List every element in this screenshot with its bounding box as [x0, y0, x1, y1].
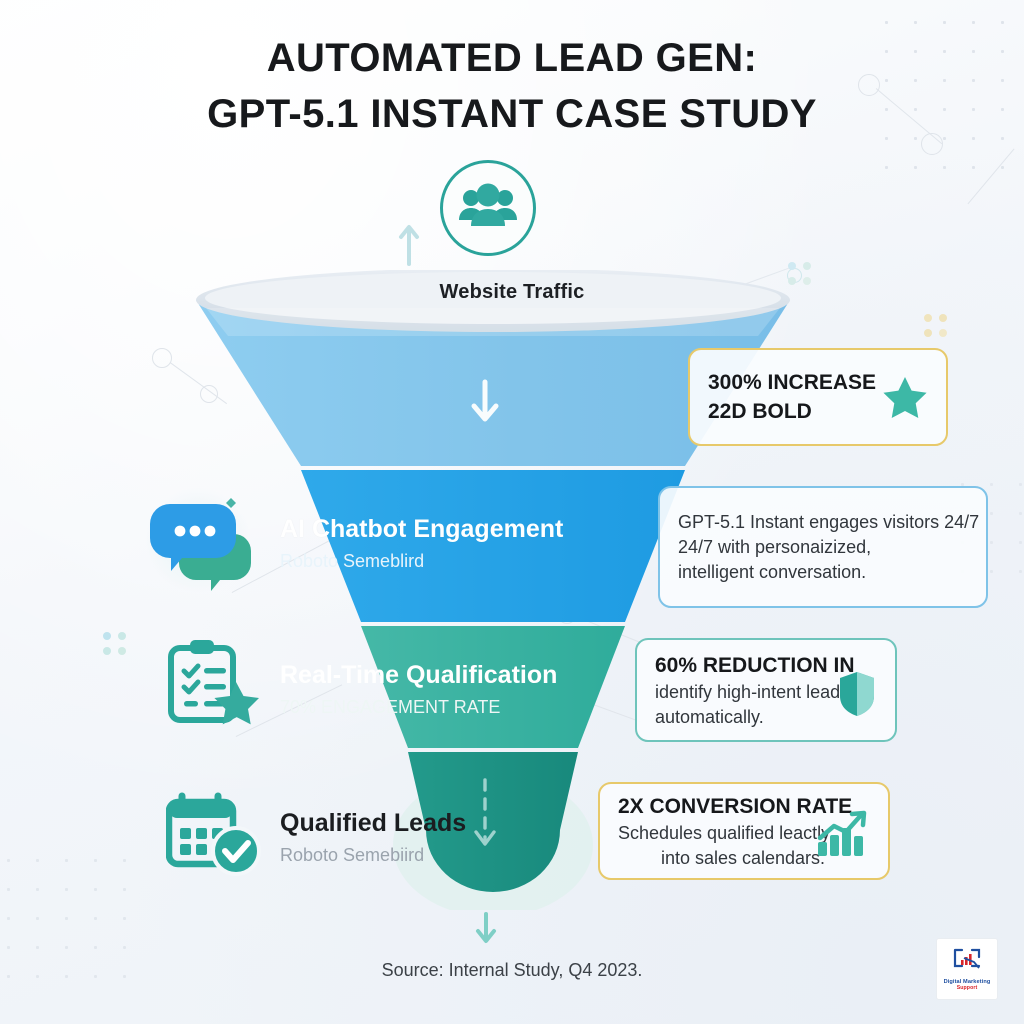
bar-chart-arrow-icon	[952, 948, 982, 977]
title-line-1: AUTOMATED LEAD GEN:	[0, 30, 1024, 86]
stage-subtitle-ai-chatbot: Roboto Semeblird	[280, 551, 424, 571]
star-icon	[882, 375, 928, 419]
brand-logo-badge[interactable]: Digital Marketing Support	[936, 938, 998, 1000]
audience-icon-badge	[440, 160, 536, 256]
dot-cluster-left	[103, 632, 126, 655]
increase-callout[interactable]: 300% INCREASE 22D BOLD	[688, 348, 948, 446]
calendar-check-icon	[166, 788, 264, 883]
clipboard-check-star-icon	[166, 638, 262, 735]
node-line-2	[967, 148, 1014, 204]
funnel-top-label: Website Traffic	[0, 281, 1024, 304]
shield-icon	[837, 670, 877, 718]
chatbot-callout-line-1: GPT-5.1 Instant engages visitors 24/7	[678, 510, 979, 535]
page-title: AUTOMATED LEAD GEN: GPT-5.1 INSTANT CASE…	[0, 30, 1024, 142]
dot-cluster-right	[924, 314, 947, 337]
people-group-icon	[457, 182, 519, 235]
increase-callout-line-1: 300% INCREASE	[708, 368, 876, 397]
node-circle-3	[152, 348, 172, 368]
chat-bubbles-icon	[150, 492, 254, 597]
stage-label-real-time-qualification: Real-Time Qualification 70% ENGAGEMENT R…	[280, 660, 557, 719]
stage-label-qualified-leads: Qualified Leads Roboto Semebiird	[280, 808, 466, 867]
chatbot-callout[interactable]: GPT-5.1 Instant engages visitors 24/7 24…	[658, 486, 988, 608]
down-arrow-icon	[474, 912, 498, 951]
up-arrow-icon	[398, 222, 420, 271]
chatbot-callout-line-2: 24/7 with personaizized,	[678, 535, 979, 560]
stage-label-ai-chatbot: AI Chatbot Engagement Roboto Semeblird	[280, 514, 563, 573]
reduction-callout[interactable]: 60% REDUCTION IN identify high-intent le…	[635, 638, 897, 742]
title-line-2: GPT-5.1 INSTANT CASE STUDY	[0, 86, 1024, 142]
stage-title-real-time-qualification: Real-Time Qualification	[280, 661, 557, 689]
stage-subtitle-qualified-leads: Roboto Semebiird	[280, 845, 424, 865]
increase-callout-line-2: 22D BOLD	[708, 397, 876, 426]
stage-subtitle-real-time-qualification: 70% ENGAGEMENT RATE	[280, 697, 500, 717]
source-note: Source: Internal Study, Q4 2023.	[0, 960, 1024, 981]
stage-title-ai-chatbot: AI Chatbot Engagement	[280, 515, 563, 543]
growth-chart-icon	[816, 810, 870, 858]
stage-title-qualified-leads: Qualified Leads	[280, 809, 466, 837]
infographic-canvas: AUTOMATED LEAD GEN: GPT-5.1 INSTANT CASE…	[0, 0, 1024, 1024]
conversion-callout[interactable]: 2X CONVERSION RATE Schedules qualified l…	[598, 782, 890, 880]
logo-text-line-2: Support	[957, 985, 978, 991]
chatbot-callout-line-3: intelligent conversation.	[678, 560, 979, 585]
